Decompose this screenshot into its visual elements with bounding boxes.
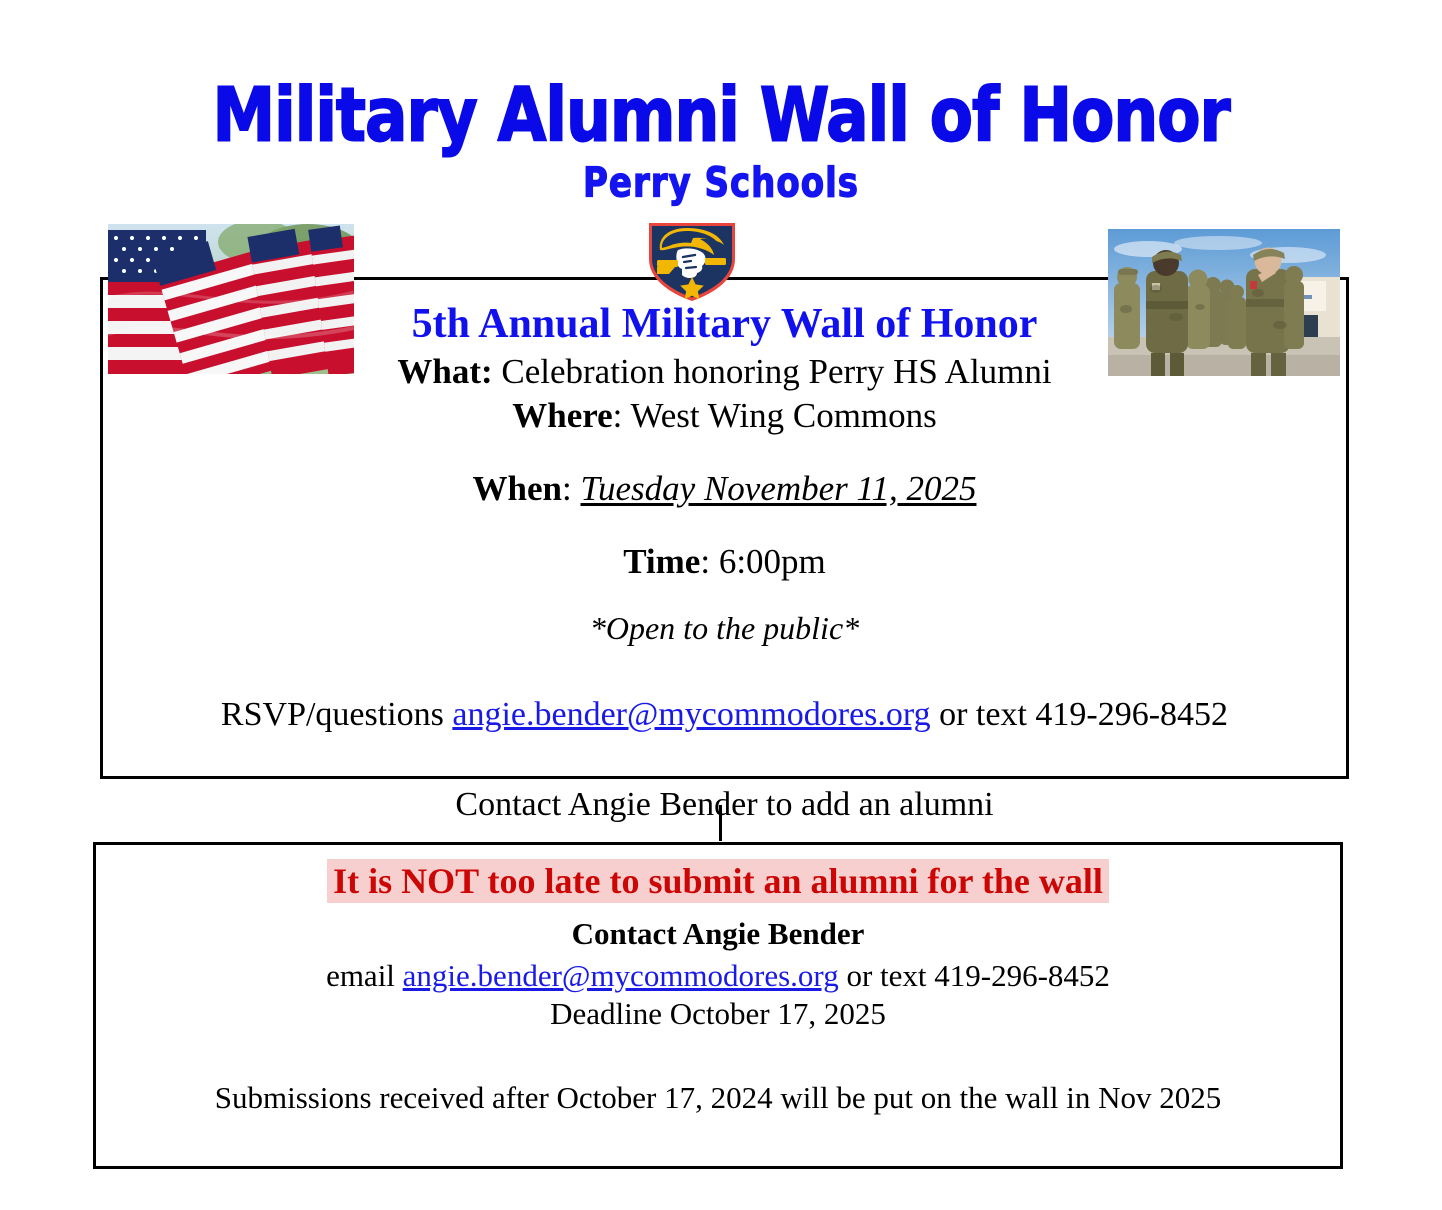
- event-where-line: Where: West Wing Commons: [100, 395, 1349, 438]
- submission-deadline: Deadline October 17, 2025: [93, 996, 1343, 1032]
- rsvp-email-link[interactable]: angie.bender@mycommodores.org: [452, 696, 930, 733]
- event-when-line: When: Tuesday November 11, 2025: [100, 468, 1349, 511]
- event-what-label: What:: [397, 352, 492, 391]
- event-when-label: When: [473, 469, 562, 508]
- submission-late-note: Submissions received after October 17, 2…: [93, 1080, 1343, 1116]
- event-what-value: Celebration honoring Perry HS Alumni: [493, 352, 1052, 391]
- submission-notice-content: It is NOT too late to submit an alumni f…: [93, 842, 1343, 1169]
- submission-email-line: email angie.bender@mycommodores.org or t…: [93, 958, 1343, 994]
- american-flags-photo: [108, 224, 354, 374]
- event-rsvp-suffix: or text 419-296-8452: [931, 696, 1228, 733]
- event-where-value: West Wing Commons: [631, 396, 937, 435]
- submission-email-suffix: or text 419-296-8452: [839, 958, 1110, 993]
- event-rsvp-line: RSVP/questions angie.bender@mycommodores…: [100, 694, 1349, 735]
- event-rsvp-prefix: RSVP/questions: [221, 696, 452, 733]
- page-title: Military Alumni Wall of Honor: [0, 78, 1442, 152]
- perry-commodores-mascot-logo: [645, 217, 739, 303]
- event-when-sep: :: [562, 469, 580, 508]
- event-time-sep: :: [700, 542, 718, 581]
- submission-email-link[interactable]: angie.bender@mycommodores.org: [403, 958, 839, 993]
- soldiers-saluting-photo: [1108, 229, 1340, 376]
- submission-email-prefix: email: [326, 958, 403, 993]
- event-when-value: Tuesday November 11, 2025: [580, 469, 976, 508]
- event-contact-note: Contact Angie Bender to add an alumni: [100, 784, 1349, 825]
- submission-alert-line: It is NOT too late to submit an alumni f…: [93, 859, 1343, 904]
- submission-contact-name: Contact Angie Bender: [93, 916, 1343, 952]
- event-time-line: Time: 6:00pm: [100, 541, 1349, 584]
- submission-alert-text: It is NOT too late to submit an alumni f…: [327, 859, 1109, 903]
- page-subtitle: Perry Schools: [0, 163, 1442, 204]
- event-time-label: Time: [623, 542, 700, 581]
- event-time-value: 6:00pm: [719, 542, 826, 581]
- poster-header: Military Alumni Wall of Honor Perry Scho…: [0, 78, 1442, 197]
- event-where-sep: :: [613, 396, 631, 435]
- event-open-note: *Open to the public*: [100, 609, 1349, 648]
- event-where-label: Where: [512, 396, 612, 435]
